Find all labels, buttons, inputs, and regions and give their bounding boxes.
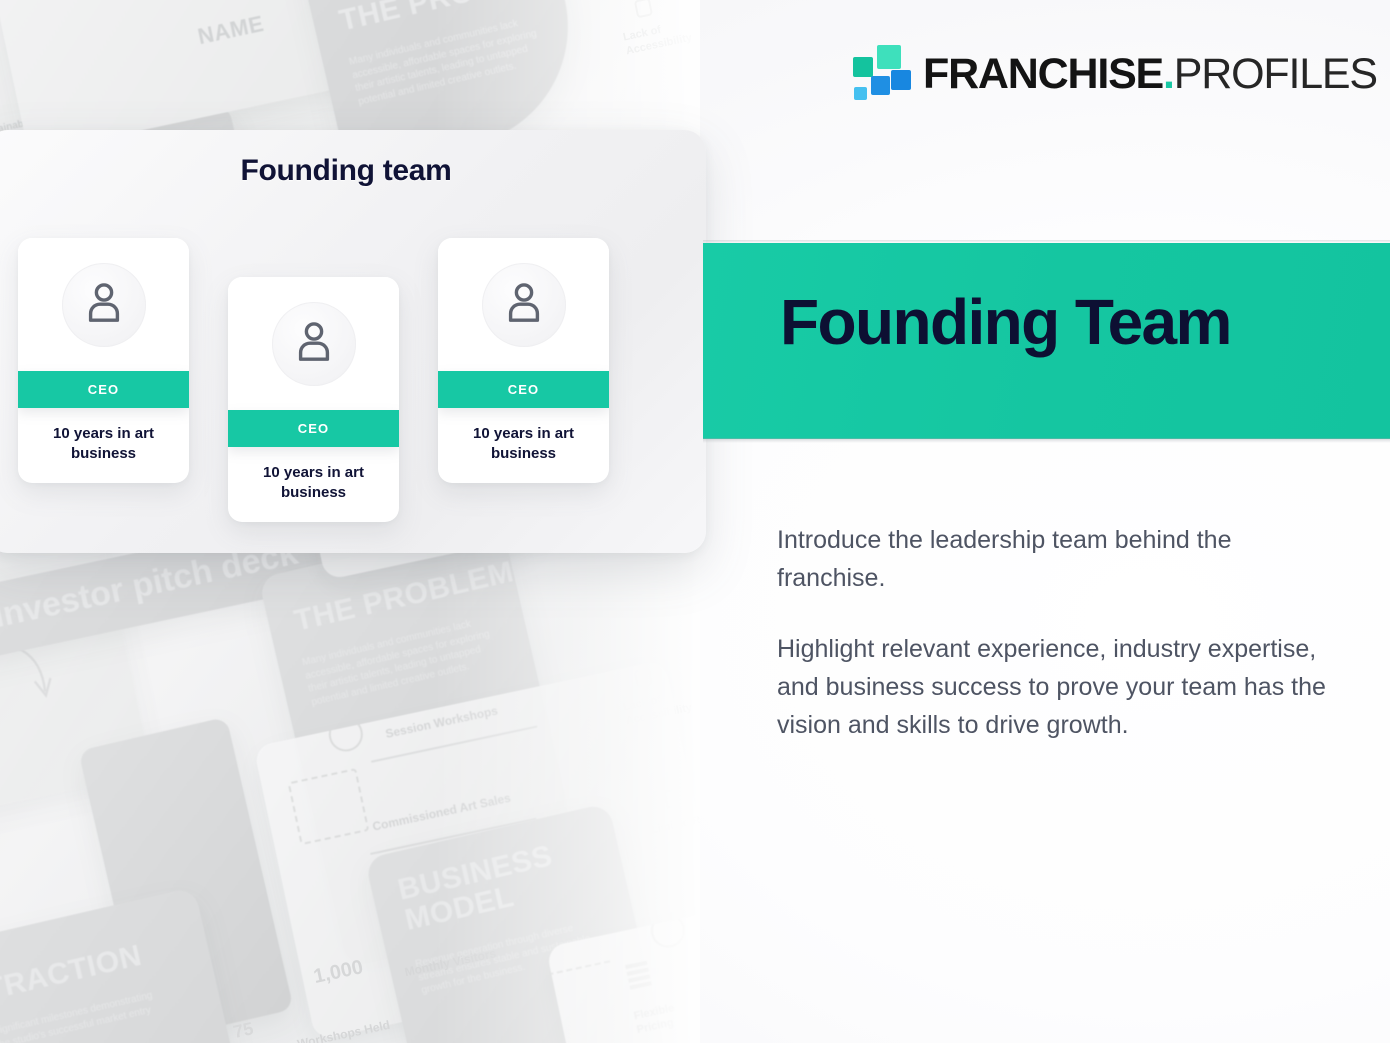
metric-value-workshops: 75 xyxy=(231,1018,255,1043)
square-blue-mid xyxy=(871,76,890,95)
team-member-card[interactable]: CEO 10 years in art business xyxy=(228,277,399,522)
deck-label-flexible-pricing: Flexible Pricing xyxy=(633,996,700,1037)
member-role-badge: CEO xyxy=(18,371,189,408)
deck-slide-problem-items-2: Lack of Accessibility Limited Resources … xyxy=(590,624,700,655)
avatar xyxy=(228,277,399,410)
page-title: Founding Team xyxy=(780,285,1231,359)
slide-canvas: MARKET spaces in urban and suburban area… xyxy=(0,0,1390,1043)
person-icon xyxy=(503,280,545,329)
team-member-card[interactable]: CEO 10 years in art business xyxy=(18,238,189,483)
square-teal-dark xyxy=(853,57,873,77)
slide-preview-title: Founding team xyxy=(0,154,706,188)
avatar xyxy=(438,238,609,371)
logo-word-secondary: PROFILES xyxy=(1174,50,1377,98)
avatar xyxy=(18,238,189,371)
logo-separator-dot: . xyxy=(1163,50,1174,98)
logo-word-primary: FRANCHISE xyxy=(923,50,1163,98)
body-paragraph-1: Introduce the leadership team behind the… xyxy=(777,521,1343,597)
person-icon xyxy=(293,319,335,368)
body-copy: Introduce the leadership team behind the… xyxy=(777,521,1343,744)
team-member-card[interactable]: CEO 10 years in art business xyxy=(438,238,609,483)
document-icon xyxy=(634,0,653,18)
deck-slide-business-title: BUSINESS MODEL xyxy=(395,838,574,936)
features-dashed-line xyxy=(547,960,610,975)
logo-wordmark: FRANCHISE.PROFILES xyxy=(923,53,1377,96)
member-description: 10 years in art business xyxy=(228,447,399,522)
person-icon xyxy=(83,280,125,329)
pricing-dashed-frame-2 xyxy=(288,768,370,845)
member-role-badge: CEO xyxy=(228,410,399,447)
square-blue-cyan xyxy=(854,87,867,100)
slide-preview-card[interactable]: Founding team CEO 10 years in art xyxy=(0,130,706,553)
founding-team-member-row: CEO 10 years in art business CEO xyxy=(0,238,706,538)
square-blue-dark xyxy=(891,70,911,90)
deck-slide-title-name: NAME xyxy=(196,13,266,49)
bar-chart-icon xyxy=(625,961,652,991)
member-role-badge: CEO xyxy=(438,371,609,408)
body-paragraph-2: Highlight relevant experience, industry … xyxy=(777,630,1343,744)
logo-squares-mark xyxy=(851,43,907,105)
square-teal-light xyxy=(877,45,901,69)
avatar-disc xyxy=(272,302,356,386)
avatar-disc xyxy=(62,263,146,347)
member-description: 10 years in art business xyxy=(18,408,189,483)
deck-label-accessibility: Lack of Accessibility xyxy=(622,11,700,59)
headline-banner: Founding Team xyxy=(703,243,1390,439)
brand-logo[interactable]: FRANCHISE.PROFILES xyxy=(851,43,1377,105)
member-description: 10 years in art business xyxy=(438,408,609,483)
avatar-disc xyxy=(482,263,566,347)
